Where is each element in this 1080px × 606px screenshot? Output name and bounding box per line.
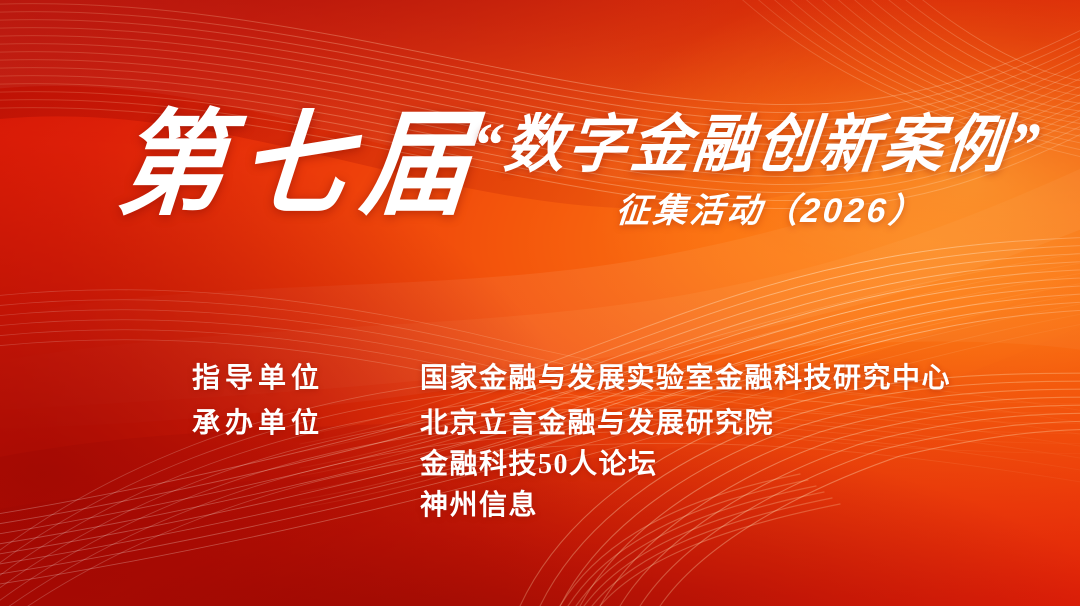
headline-quoted-theme: “数字金融创新案例”: [468, 108, 1046, 182]
event-poster: 第七届 “数字金融创新案例” 征集活动（2026） 指导单位 国家金融与发展实验…: [0, 0, 1080, 606]
credit-label-guidance: 指导单位: [192, 358, 420, 399]
credit-values: 国家金融与发展实验室金融科技研究中心: [420, 358, 1052, 399]
credit-row: 承办单位 北京立言金融与发展研究院 金融科技50人论坛 神州信息: [192, 403, 1052, 526]
credit-value: 金融科技50人论坛: [420, 444, 1052, 485]
title-block: 第七届 “数字金融创新案例” 征集活动（2026）: [0, 104, 1080, 254]
credit-value: 神州信息: [420, 485, 1052, 526]
headline-subtitle: 征集活动（2026）: [614, 190, 927, 232]
credit-value: 国家金融与发展实验室金融科技研究中心: [420, 358, 1052, 399]
credit-row: 指导单位 国家金融与发展实验室金融科技研究中心: [192, 358, 1052, 399]
headline-main: 第七届: [113, 104, 490, 229]
poster-content: 第七届 “数字金融创新案例” 征集活动（2026） 指导单位 国家金融与发展实验…: [0, 0, 1080, 606]
credit-label-organizer: 承办单位: [192, 403, 420, 444]
credit-value: 北京立言金融与发展研究院: [420, 403, 1052, 444]
credit-values: 北京立言金融与发展研究院 金融科技50人论坛 神州信息: [420, 403, 1052, 526]
credits-block: 指导单位 国家金融与发展实验室金融科技研究中心 承办单位 北京立言金融与发展研究…: [192, 358, 1052, 530]
